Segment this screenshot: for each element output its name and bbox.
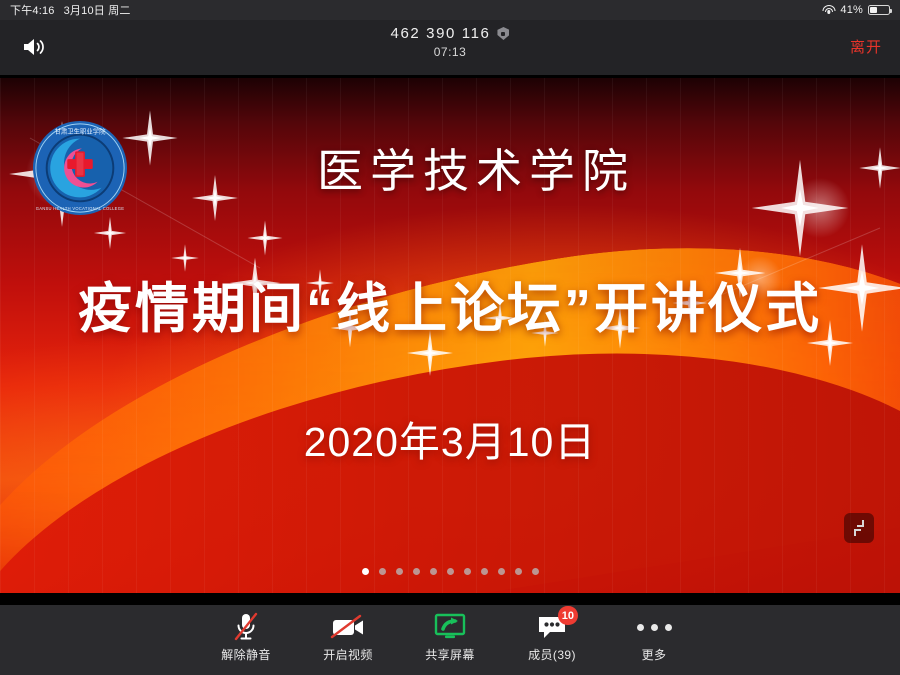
status-date: 3月10日 周二 <box>64 2 131 18</box>
meeting-timer: 07:13 <box>0 45 900 59</box>
more-button[interactable]: 更多 <box>618 609 690 671</box>
toolbar-label: 解除静音 <box>221 646 271 663</box>
battery-icon <box>868 5 890 15</box>
share-screen-button[interactable]: 共享屏幕 <box>414 609 486 671</box>
start-video-button[interactable]: 开启视频 <box>312 609 384 671</box>
slide-subtitle: 疫情期间“线上论坛”开讲仪式 <box>0 264 900 343</box>
shared-screen-stage[interactable]: 甘肃卫生职业学院 GANSU HEALTH VOCATIONAL COLLEGE… <box>0 75 900 605</box>
participants-button[interactable]: 10 成员(39) <box>516 609 588 671</box>
page-dot <box>447 568 454 575</box>
toolbar-label: 成员(39) <box>528 646 576 663</box>
page-dot <box>362 568 369 575</box>
page-dot <box>532 568 539 575</box>
ios-status-bar: 下午4:16 3月10日 周二 41% <box>0 0 900 20</box>
page-dot <box>515 568 522 575</box>
microphone-muted-icon <box>231 609 261 645</box>
toolbar-label: 更多 <box>642 646 667 663</box>
toolbar-label: 开启视频 <box>323 646 373 663</box>
meeting-top-bar: 462 390 116 07:13 离开 <box>0 20 900 75</box>
page-dot <box>396 568 403 575</box>
page-dot <box>413 568 420 575</box>
presentation-slide: 甘肃卫生职业学院 GANSU HEALTH VOCATIONAL COLLEGE… <box>0 78 900 593</box>
zoom-meeting-screen: 下午4:16 3月10日 周二 41% 462 390 116 07:13 离开 <box>0 0 900 675</box>
slide-title: 医学技术学院 <box>0 135 900 201</box>
wifi-icon <box>822 5 835 15</box>
meeting-info: 462 390 116 07:13 <box>0 25 900 59</box>
unmute-button[interactable]: 解除静音 <box>210 609 282 671</box>
leave-button[interactable]: 离开 <box>850 36 882 57</box>
more-dots-icon <box>637 609 672 645</box>
video-off-icon <box>330 609 366 645</box>
page-dot <box>430 568 437 575</box>
page-dot <box>464 568 471 575</box>
shield-icon <box>497 27 509 40</box>
speaker-icon[interactable] <box>18 32 52 62</box>
participants-icon: 10 <box>536 609 568 645</box>
share-screen-icon <box>433 609 467 645</box>
status-time: 下午4:16 <box>10 2 55 18</box>
toolbar-label: 共享屏幕 <box>425 646 475 663</box>
page-dot <box>498 568 505 575</box>
meeting-id: 462 390 116 <box>391 25 491 42</box>
slide-date: 2020年3月10日 <box>0 408 900 468</box>
svg-text:GANSU HEALTH VOCATIONAL COLLEG: GANSU HEALTH VOCATIONAL COLLEGE <box>36 206 125 211</box>
participants-badge: 10 <box>558 606 578 625</box>
page-indicator[interactable] <box>0 568 900 575</box>
meeting-id-row: 462 390 116 <box>391 25 510 42</box>
page-dot <box>379 568 386 575</box>
minimize-corners-icon[interactable] <box>844 513 874 543</box>
battery-percent-label: 41% <box>840 4 863 16</box>
meeting-toolbar: 解除静音 开启视频 共享屏幕 <box>0 605 900 675</box>
page-dot <box>481 568 488 575</box>
